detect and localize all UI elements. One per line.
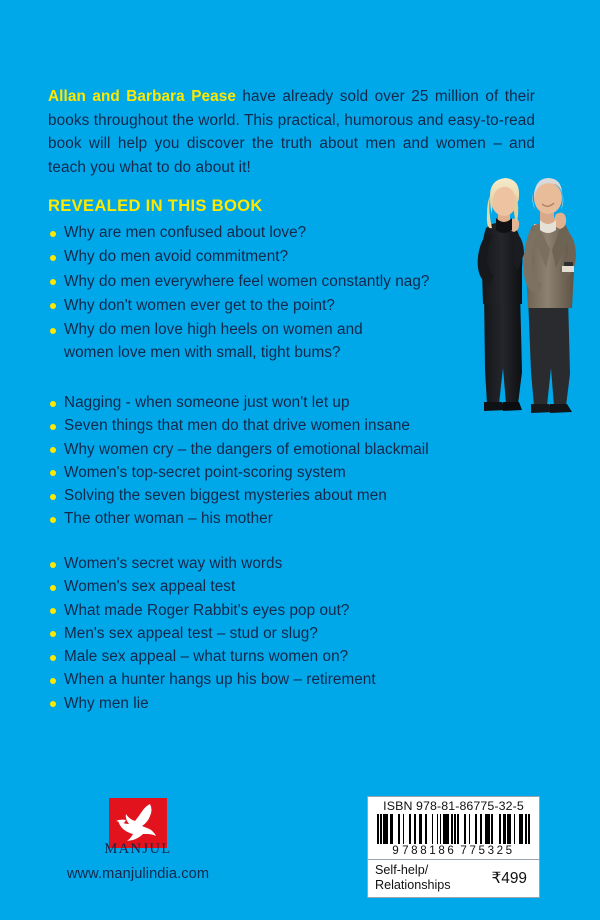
publisher-block: MANJUL www.manjulindia.com [48,798,228,882]
bullet-dot-icon [50,470,56,476]
list-item: Why do men everywhere feel women constan… [48,271,478,294]
list-item: Why do men love high heels on women and … [48,319,478,365]
bullet-dot-icon [50,279,56,285]
bullet-dot-icon [50,562,56,568]
bullet-dot-icon [50,255,56,261]
barcode-bars [377,814,530,844]
publisher-name: MANJUL [48,841,228,858]
category-price-row: Self-help/ Relationships ₹499 [368,860,539,897]
list-item: Women's sex appeal test [48,576,448,599]
list-item: Why do men avoid commitment? [48,246,478,269]
list-item-text: Women's secret way with words [64,553,448,576]
list-item: Men's sex appeal test – stud or slug? [48,623,448,646]
list-item: Male sex appeal – what turns women on? [48,646,448,669]
list-item-text: Nagging - when someone just won't let up [64,392,478,415]
list-item: Why women cry – the dangers of emotional… [48,439,478,462]
bullet-dot-icon [50,328,56,334]
book-back-cover: Allan and Barbara Pease have already sol… [0,0,600,920]
bullet-dot-icon [50,608,56,614]
bullet-dot-icon [50,447,56,453]
bullet-group-topics-b: Women's secret way with words Women's se… [48,553,448,716]
intro-paragraph: Allan and Barbara Pease have already sol… [48,85,535,179]
list-item: What made Roger Rabbit's eyes pop out? [48,600,448,623]
bullet-group-topics-a: Nagging - when someone just won't let up… [48,392,478,532]
list-item: Nagging - when someone just won't let up [48,392,478,415]
bullet-dot-icon [50,631,56,637]
authors-name: Allan and Barbara Pease [48,88,236,105]
bullet-dot-icon [50,231,56,237]
list-item-text-wrap: women love men with small, tight bums? [64,342,478,365]
bullet-dot-icon [50,424,56,430]
list-item: Seven things that men do that drive wome… [48,415,478,438]
list-item-text: Women's sex appeal test [64,576,448,599]
list-item-text: Why men lie [64,693,448,716]
price-text: ₹499 [492,869,531,888]
bullet-dot-icon [50,517,56,523]
section-heading: REVEALED IN THIS BOOK [48,196,263,216]
list-item-text: Why are men confused about love? [64,222,478,245]
list-item: When a hunter hangs up his bow – retirem… [48,669,448,692]
isbn-text: ISBN 978-81-86775-32-5 [368,797,539,814]
bullet-dot-icon [50,655,56,661]
category-line-1: Self-help/ [375,863,451,878]
authors-photo [462,172,590,418]
bullet-dot-icon [50,585,56,591]
list-item-text: Women's top-secret point-scoring system [64,462,478,485]
bullet-dot-icon [50,303,56,309]
barcode-block: ISBN 978-81-86775-32-5 9 788186 775325 S… [367,796,540,898]
category-line-2: Relationships [375,878,451,893]
list-item: Why men lie [48,693,448,716]
publisher-website: www.manjulindia.com [48,866,228,882]
barcode-digit-lead: 9 [392,844,399,857]
list-item-text: The other woman – his mother [64,508,478,531]
list-item-text: Why do men avoid commitment? [64,246,478,269]
list-item-text: Seven things that men do that drive wome… [64,415,478,438]
bullet-dot-icon [50,494,56,500]
list-item-text: Why do men love high heels on women and [64,319,478,342]
list-item: Solving the seven biggest mysteries abou… [48,485,478,508]
barcode-digits: 9 788186 775325 [368,844,539,859]
list-item: Women's top-secret point-scoring system [48,462,478,485]
list-item-text: Why don't women ever get to the point? [64,295,478,318]
list-item-text: When a hunter hangs up his bow – retirem… [64,669,448,692]
list-item-text: Why do men everywhere feel women constan… [64,271,478,294]
list-item: The other woman – his mother [48,508,478,531]
list-item-text: Why women cry – the dangers of emotional… [64,439,478,462]
bullet-dot-icon [50,401,56,407]
list-item-text: Solving the seven biggest mysteries abou… [64,485,478,508]
list-item-text: Male sex appeal – what turns women on? [64,646,448,669]
bullet-dot-icon [50,701,56,707]
bullet-group-questions: Why are men confused about love? Why do … [48,222,478,366]
list-item-text: Men's sex appeal test – stud or slug? [64,623,448,646]
list-item: Why don't women ever get to the point? [48,295,478,318]
barcode-digits-left: 788186 [402,844,456,857]
bullet-dot-icon [50,678,56,684]
list-item: Why are men confused about love? [48,222,478,245]
barcode-digits-right: 775325 [460,844,514,857]
list-item: Women's secret way with words [48,553,448,576]
list-item-text: What made Roger Rabbit's eyes pop out? [64,600,448,623]
category-text: Self-help/ Relationships [375,863,451,893]
